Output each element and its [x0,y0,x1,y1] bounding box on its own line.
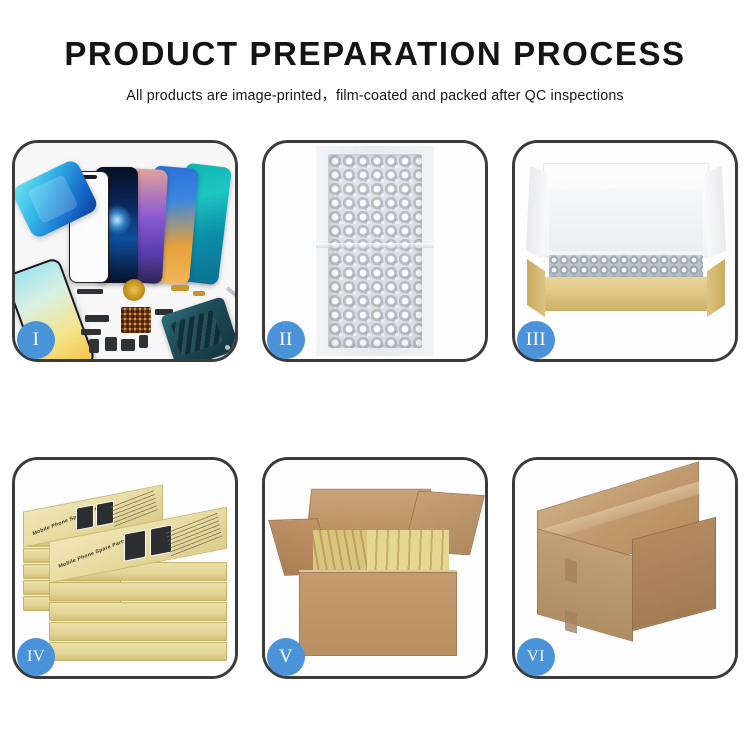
part-flex-cable-black [85,315,109,322]
steps-grid: I II III [12,140,738,679]
sealed-carton-icon [529,486,725,650]
step-panel-6: VI [512,457,738,679]
retail-box-phone-thumb [124,529,146,561]
part-sim-tray [89,339,99,353]
step-panel-2: II [262,140,488,362]
step-badge-4: IV [17,638,55,676]
part-small-flex [81,329,101,335]
mailer-box-interior [549,189,703,251]
step-badge-6: VI [517,638,555,676]
carton-seam-lower [565,610,577,633]
product-preparation-infographic: PRODUCT PREPARATION PROCESS All products… [0,0,750,750]
part-connector-gold [193,291,205,296]
tweezers-icon [226,286,235,311]
retail-box-spec-lines [166,512,222,556]
part-screw-2 [233,351,235,356]
bubble-wrap-sheet [328,154,422,348]
bubble-wrap-seam [316,243,434,248]
retail-box-edge [49,582,227,601]
step-numeral-6: VI [527,648,545,666]
open-carton-icon [279,486,475,656]
page-title: PRODUCT PREPARATION PROCESS [0,36,750,72]
step-numeral-1: I [33,329,40,351]
step-panel-4: Mobile Phone Spare Parts Mobile Phone Sp… [12,457,238,679]
step-numeral-4: IV [27,648,45,666]
step-numeral-2: II [279,329,293,351]
part-camera-module [105,337,117,351]
step-panel-3: III [512,140,738,362]
part-vibration-motor [123,279,145,301]
step-numeral-3: III [526,329,546,351]
retail-box-edge [49,602,227,621]
part-earpiece-mesh [77,289,103,294]
phone-display-fan-icon [67,151,235,283]
mailer-box-front-kraft [541,277,711,311]
phone-chassis-icon [160,296,235,359]
retail-box-edge [49,642,227,661]
step-badge-2: II [267,321,305,359]
part-screw-1 [225,345,230,350]
step-panel-5: V [262,457,488,679]
part-button-set [139,335,148,348]
step-numeral-5: V [279,646,293,668]
carton-seam-upper [565,558,577,583]
retail-box-stack-icon: Mobile Phone Spare Parts Mobile Phone Sp… [19,474,233,670]
part-speaker-unit [121,339,135,351]
retail-box-edge [49,622,227,641]
retail-box-phone-thumb [76,504,94,530]
step-badge-5: V [267,638,305,676]
header: PRODUCT PREPARATION PROCESS All products… [0,0,750,105]
retail-box-label-text: Mobile Phone Spare Parts [58,538,127,570]
step-panel-1: I [12,140,238,362]
step-badge-1: I [17,321,55,359]
spare-parts-group [75,275,235,359]
bubble-wrap-pouch-icon [316,146,434,356]
part-flex-cable-gold [171,285,189,291]
page-subtitle: All products are image-printed，film-coat… [0,84,750,105]
carton-body [299,572,457,656]
step-badge-3: III [517,321,555,359]
part-chip-array [121,307,151,333]
